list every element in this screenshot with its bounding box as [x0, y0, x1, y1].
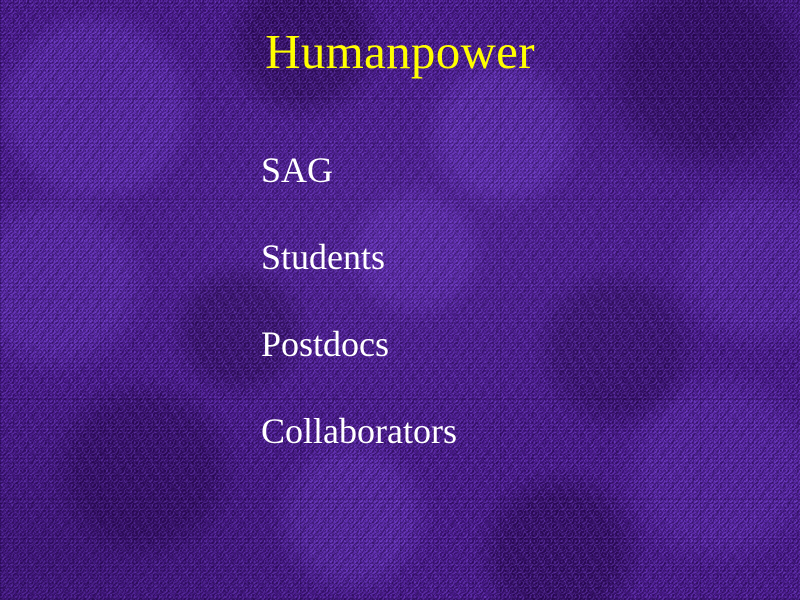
- bullet-item-students: Students: [261, 239, 457, 275]
- slide-content: Humanpower SAG Students Postdocs Collabo…: [0, 0, 800, 600]
- presentation-slide: Humanpower SAG Students Postdocs Collabo…: [0, 0, 800, 600]
- bullet-item-collaborators: Collaborators: [261, 413, 457, 449]
- bullet-item-sag: SAG: [261, 152, 457, 188]
- slide-bullet-list: SAG Students Postdocs Collaborators: [261, 152, 457, 449]
- bullet-item-postdocs: Postdocs: [261, 326, 457, 362]
- slide-title: Humanpower: [0, 27, 800, 76]
